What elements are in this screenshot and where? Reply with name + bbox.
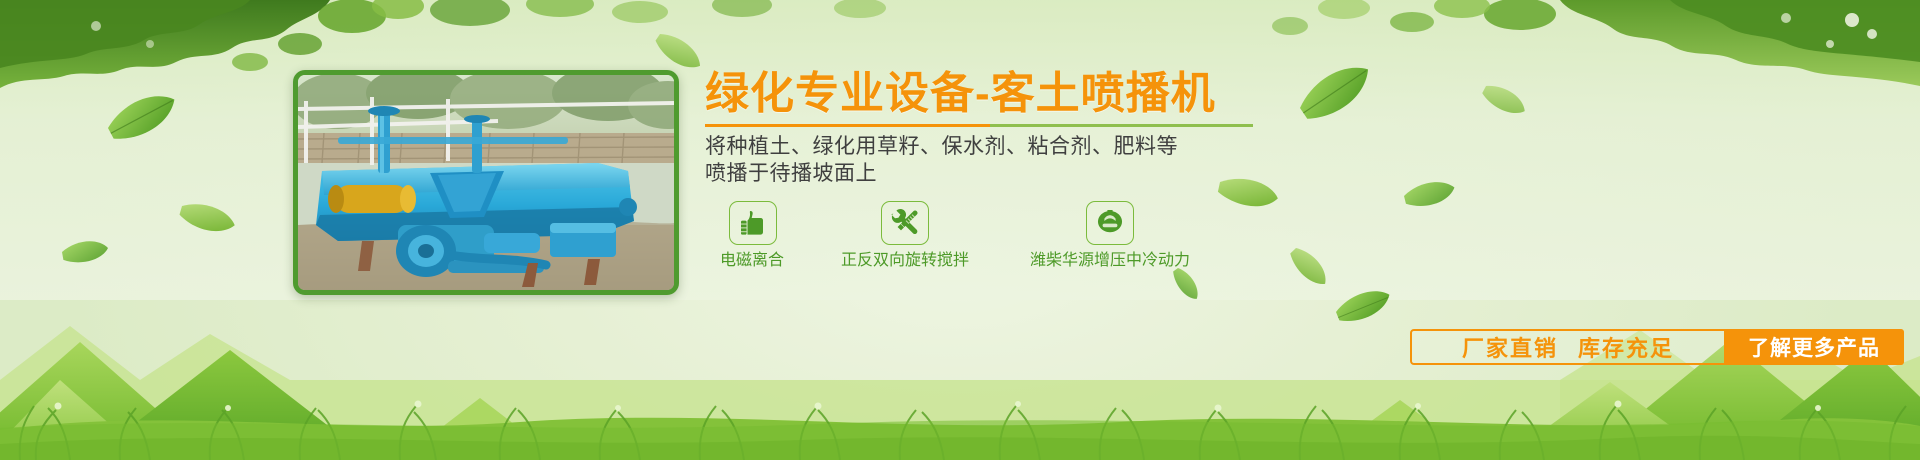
subtitle: 将种植土、绿化用草籽、保水剂、粘合剂、肥料等 喷播于待播坡面上 bbox=[705, 133, 1265, 187]
engine-gear-glyph bbox=[1095, 209, 1125, 237]
thumbs-up-glyph bbox=[738, 209, 768, 237]
subtitle-line-2: 喷播于待播坡面上 bbox=[705, 160, 1265, 187]
feature-label: 电磁离合 bbox=[703, 252, 801, 270]
title-divider bbox=[705, 124, 1253, 127]
cta-tagline: 厂家直销 库存充足 bbox=[1412, 331, 1724, 363]
feature-item-electromagnetic-clutch[interactable]: 电磁离合 bbox=[705, 201, 801, 270]
learn-more-button[interactable]: 了解更多产品 bbox=[1724, 329, 1904, 365]
product-photo bbox=[298, 75, 674, 290]
feature-list: 电磁离合 正反双向旋转搅拌 bbox=[705, 201, 1265, 277]
product-photo-illustration bbox=[298, 75, 674, 290]
feature-item-weichai-engine[interactable]: 潍柴华源增压中冷动力 bbox=[1005, 201, 1215, 270]
cta-tag-left: 厂家直销 bbox=[1462, 331, 1558, 363]
product-photo-card[interactable] bbox=[293, 70, 679, 295]
divider-green-segment bbox=[990, 124, 1253, 127]
page-title: 绿化专业设备-客土喷播机 bbox=[705, 70, 1265, 118]
wrench-screwdriver-icon bbox=[881, 201, 929, 245]
cta-bar: 厂家直销 库存充足 了解更多产品 bbox=[1410, 329, 1904, 365]
engine-gear-icon bbox=[1086, 201, 1134, 245]
wrench-screwdriver-glyph bbox=[890, 209, 920, 237]
cta-tag-right: 库存充足 bbox=[1578, 331, 1674, 363]
feature-label: 潍柴华源增压中冷动力 bbox=[1005, 252, 1215, 270]
divider-orange-segment bbox=[705, 124, 990, 127]
thumbs-up-icon bbox=[729, 201, 777, 245]
feature-label: 正反双向旋转搅拌 bbox=[813, 252, 997, 270]
banner-copy: 绿化专业设备-客土喷播机 将种植土、绿化用草籽、保水剂、粘合剂、肥料等 喷播于待… bbox=[705, 70, 1265, 277]
feature-item-bidirectional-mixing[interactable]: 正反双向旋转搅拌 bbox=[813, 201, 997, 270]
promo-banner: 绿化专业设备-客土喷播机 将种植土、绿化用草籽、保水剂、粘合剂、肥料等 喷播于待… bbox=[0, 0, 1920, 460]
subtitle-line-1: 将种植土、绿化用草籽、保水剂、粘合剂、肥料等 bbox=[705, 133, 1265, 160]
